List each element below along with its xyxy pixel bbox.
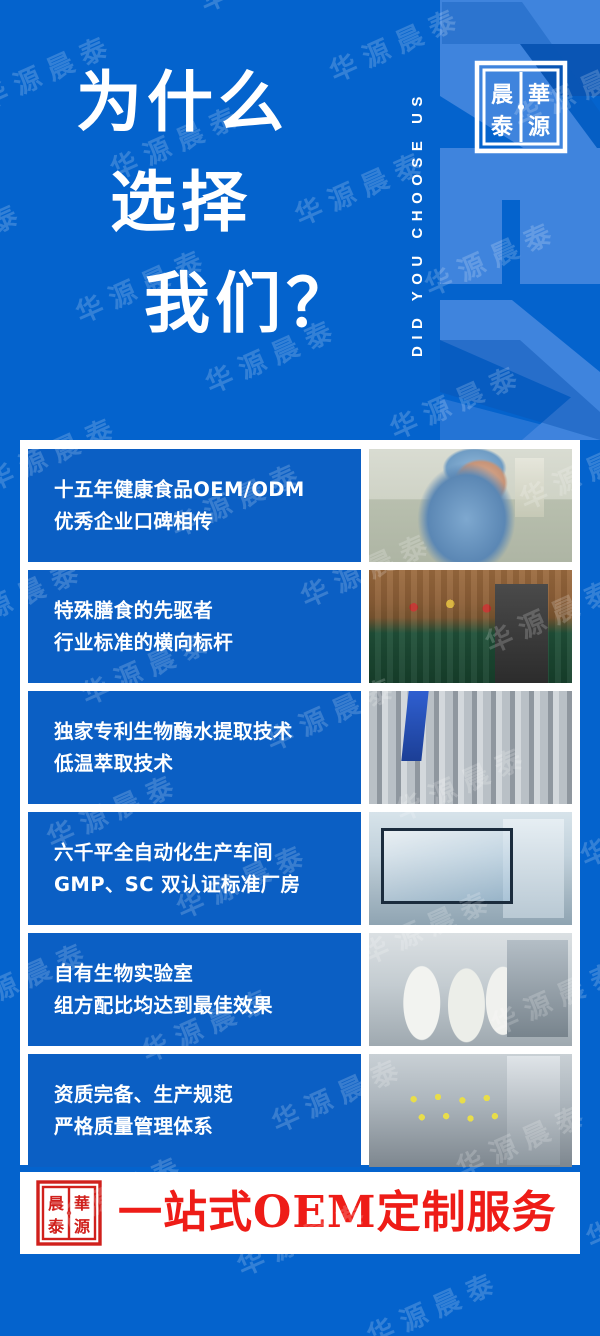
title-line-3: 我们？ [76, 253, 406, 353]
feature-card[interactable]: 十五年健康食品OEM/ODM 优秀企业口碑相传 [28, 449, 572, 562]
lab-technician-inspecting-vial-photo [369, 449, 572, 562]
brand-seal-red-icon: 華 源 晨 泰 [34, 1178, 104, 1248]
seal-char-tai: 泰 [490, 114, 514, 140]
page-title: 为什么 选择 我们？ [76, 52, 406, 353]
poster-root: 为什么 选择 我们？ DID YOU CHOOSE US 華 源 晨 泰 [0, 0, 600, 1336]
cleanroom-corridor-photo [369, 812, 572, 925]
feature-card-text: 资质完备、生产规范 严格质量管理体系 [28, 1054, 361, 1167]
feature-card[interactable]: 自有生物实验室 组方配比均达到最佳效果 [28, 933, 572, 1046]
feature-card[interactable]: 特殊膳食的先驱者 行业标准的横向标杆 [28, 570, 572, 683]
feature-line-2: 行业标准的横向标杆 [54, 627, 361, 659]
footer-slogan: 一站式OEM定制服务 [118, 1191, 557, 1235]
features-panel: 十五年健康食品OEM/ODM 优秀企业口碑相传 特殊膳食的先驱者 行业标准的横向… [20, 440, 580, 1165]
footer-banner: 華 源 晨 泰 一站式OEM定制服务 [20, 1172, 580, 1254]
poster-header: 为什么 选择 我们？ DID YOU CHOOSE US 華 源 晨 泰 [0, 0, 600, 440]
title-line-2: 选择 [76, 152, 406, 252]
watermark-text: 华源晨泰 [544, 1305, 600, 1336]
seal-char-tai: 泰 [47, 1217, 65, 1236]
feature-line-2: 严格质量管理体系 [54, 1111, 361, 1143]
watermark-text: 华源晨泰 [0, 716, 2, 810]
seal-char-yuan: 源 [528, 114, 550, 140]
seal-char-yuan: 源 [74, 1217, 90, 1236]
feature-line-2: 组方配比均达到最佳效果 [54, 990, 361, 1022]
feature-line-2: GMP、SC 双认证标准厂房 [54, 869, 361, 901]
seal-char-chen: 晨 [491, 82, 514, 108]
seal-char-hua: 華 [74, 1194, 90, 1213]
seal-char-chen: 晨 [48, 1194, 65, 1213]
feature-line-2: 低温萃取技术 [54, 748, 361, 780]
feature-card-text: 十五年健康食品OEM/ODM 优秀企业口碑相传 [28, 449, 361, 562]
feature-card-text: 自有生物实验室 组方配比均达到最佳效果 [28, 933, 361, 1046]
feature-card-text: 独家专利生物酶水提取技术 低温萃取技术 [28, 691, 361, 804]
feature-line-1: 资质完备、生产规范 [54, 1079, 361, 1111]
watermark-text: 华源晨泰 [579, 1162, 600, 1256]
brand-seal-icon: 華 源 晨 泰 [472, 57, 570, 157]
feature-line-1: 独家专利生物酶水提取技术 [54, 716, 361, 748]
feature-card-text: 六千平全自动化生产车间 GMP、SC 双认证标准厂房 [28, 812, 361, 925]
feature-line-1: 特殊膳食的先驱者 [54, 595, 361, 627]
feature-card-text: 特殊膳食的先驱者 行业标准的横向标杆 [28, 570, 361, 683]
feature-line-1: 六千平全自动化生产车间 [54, 837, 361, 869]
conference-audience-photo [369, 570, 572, 683]
feature-card[interactable]: 资质完备、生产规范 严格质量管理体系 [28, 1054, 572, 1167]
vertical-english-subtitle: DID YOU CHOOSE US [400, 36, 426, 412]
watermark-text: 华源晨泰 [360, 1259, 507, 1336]
feature-card[interactable]: 六千平全自动化生产车间 GMP、SC 双认证标准厂房 [28, 812, 572, 925]
blister-packaging-tablets-photo [369, 1054, 572, 1167]
filling-machine-nozzles-photo [369, 691, 572, 804]
watermark-row: 华源晨泰华源晨泰华源晨泰华源晨泰华源晨泰 [236, 1263, 600, 1336]
title-line-1: 为什么 [76, 52, 406, 152]
feature-line-2: 优秀企业口碑相传 [54, 506, 361, 538]
feature-card[interactable]: 独家专利生物酶水提取技术 低温萃取技术 [28, 691, 572, 804]
feature-line-1: 自有生物实验室 [54, 958, 361, 990]
seal-char-hua: 華 [528, 82, 550, 108]
feature-line-1: 十五年健康食品OEM/ODM [54, 474, 361, 506]
lab-staff-production-line-photo [369, 933, 572, 1046]
